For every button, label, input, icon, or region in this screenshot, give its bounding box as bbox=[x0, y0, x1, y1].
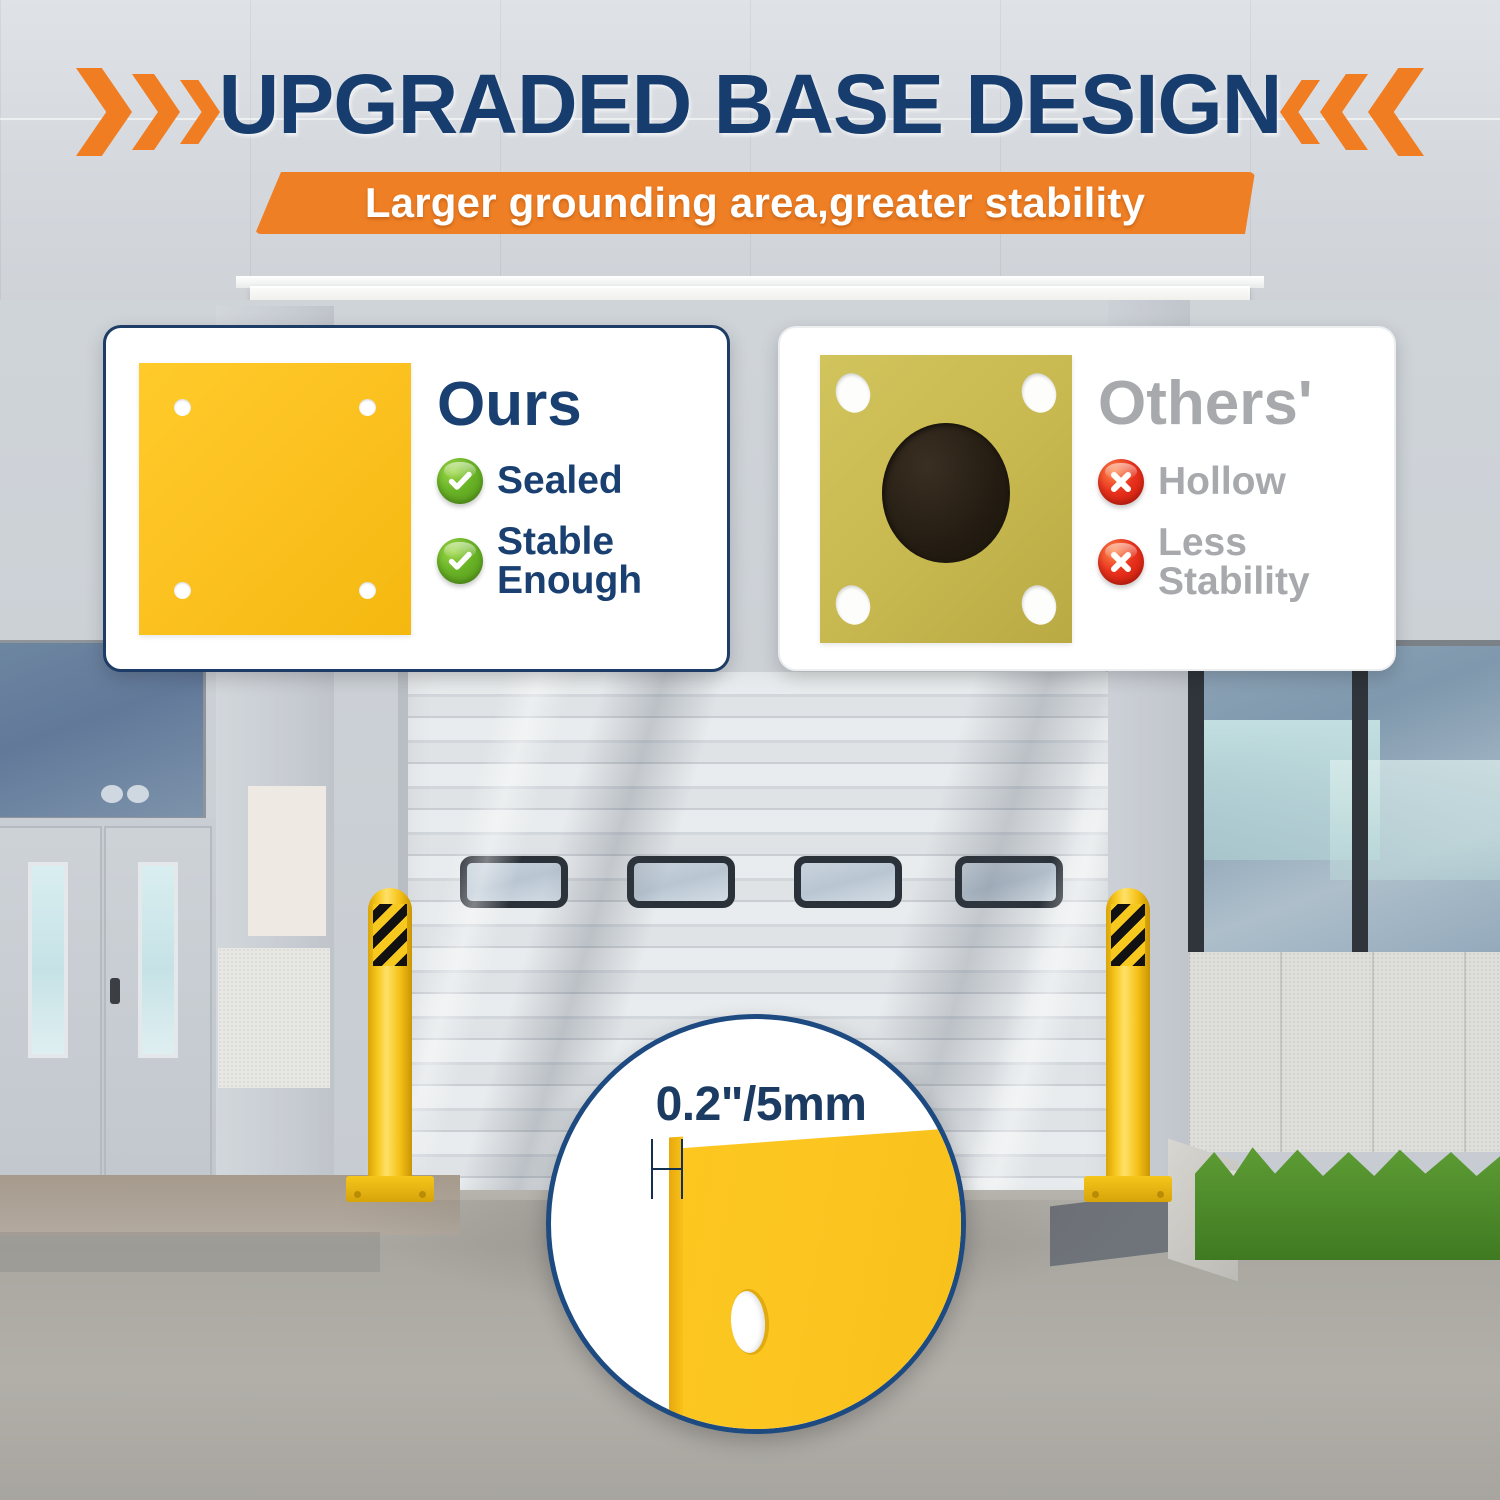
thickness-bracket-icon bbox=[651, 1139, 683, 1199]
others-plate-figure bbox=[780, 355, 1072, 643]
ours-card-body: Ours Sealed Stable Enough bbox=[411, 380, 727, 618]
hazard-stripe-icon bbox=[373, 904, 407, 966]
bolt-hole bbox=[174, 582, 191, 599]
ours-base-plate bbox=[139, 363, 411, 635]
roller-door-window bbox=[955, 856, 1063, 908]
hazard-stripe-icon bbox=[1111, 904, 1145, 966]
roller-door-window bbox=[460, 856, 568, 908]
door-glazing bbox=[28, 862, 68, 1058]
check-circle-icon bbox=[437, 538, 483, 584]
x-circle-icon bbox=[1098, 539, 1144, 585]
ours-feature-label: Sealed bbox=[497, 461, 623, 500]
window-mullion bbox=[1352, 640, 1368, 952]
others-feature-1: Hollow bbox=[1098, 459, 1380, 505]
bolt-hole bbox=[359, 399, 376, 416]
asphalt-patch bbox=[0, 1232, 380, 1272]
bollard-base-plate bbox=[1084, 1176, 1172, 1202]
others-brand-label: Others' bbox=[1098, 373, 1380, 435]
bolt-hole bbox=[359, 582, 376, 599]
entry-door-left bbox=[0, 826, 102, 1178]
page-title: UPGRADED BASE DESIGN bbox=[0, 56, 1500, 153]
thickness-measurement-label: 0.2"/5mm bbox=[551, 1077, 966, 1132]
bolt-hole bbox=[831, 368, 876, 417]
stone-base-wall bbox=[1188, 952, 1500, 1152]
others-feature-label: Less Stability bbox=[1158, 523, 1310, 601]
roller-door-window bbox=[794, 856, 902, 908]
door-handle-icon bbox=[110, 978, 120, 1004]
subtitle-banner: Larger grounding area,greater stability bbox=[255, 172, 1255, 234]
others-feature-label: Hollow bbox=[1158, 462, 1286, 501]
comparison-card-others: Others' Hollow Less Stability bbox=[778, 326, 1396, 671]
others-card-body: Others' Hollow Less Stability bbox=[1072, 379, 1394, 619]
thickness-magnifier-callout: 0.2"/5mm bbox=[546, 1014, 966, 1434]
x-circle-icon bbox=[1098, 459, 1144, 505]
window-mullion bbox=[1188, 640, 1204, 952]
bolt-hole bbox=[1017, 580, 1062, 629]
ours-feature-1: Sealed bbox=[437, 458, 713, 504]
magnified-plate bbox=[669, 1125, 966, 1434]
chevron-icon bbox=[1368, 68, 1424, 156]
chevron-icon bbox=[1280, 80, 1320, 144]
others-feature-2: Less Stability bbox=[1098, 523, 1380, 601]
header: UPGRADED BASE DESIGN Larger grounding ar… bbox=[0, 0, 1500, 250]
chevron-left-triple-icon bbox=[1280, 68, 1424, 156]
comparison-card-ours: Ours Sealed Stable Enough bbox=[103, 325, 730, 672]
bolt-hole bbox=[1017, 368, 1062, 417]
facade-panel bbox=[248, 786, 326, 936]
roller-door-window bbox=[627, 856, 735, 908]
others-base-plate bbox=[820, 355, 1072, 643]
subtitle-text: Larger grounding area,greater stability bbox=[255, 172, 1255, 234]
ours-feature-label: Stable Enough bbox=[497, 522, 642, 600]
ours-plate-figure bbox=[106, 363, 411, 635]
window-lamp-icon bbox=[101, 785, 123, 803]
chevron-icon bbox=[1320, 74, 1368, 150]
hollow-center-hole bbox=[882, 423, 1010, 563]
facade-stone-panel bbox=[218, 948, 330, 1088]
check-circle-icon bbox=[437, 458, 483, 504]
ours-brand-label: Ours bbox=[437, 374, 713, 436]
bollard-base-plate bbox=[346, 1176, 434, 1202]
bolt-hole bbox=[174, 399, 191, 416]
door-glazing bbox=[138, 862, 178, 1058]
bolt-hole bbox=[831, 580, 876, 629]
window-lamp-icon bbox=[127, 785, 149, 803]
entry-door-right bbox=[104, 826, 212, 1178]
ours-feature-2: Stable Enough bbox=[437, 522, 713, 600]
